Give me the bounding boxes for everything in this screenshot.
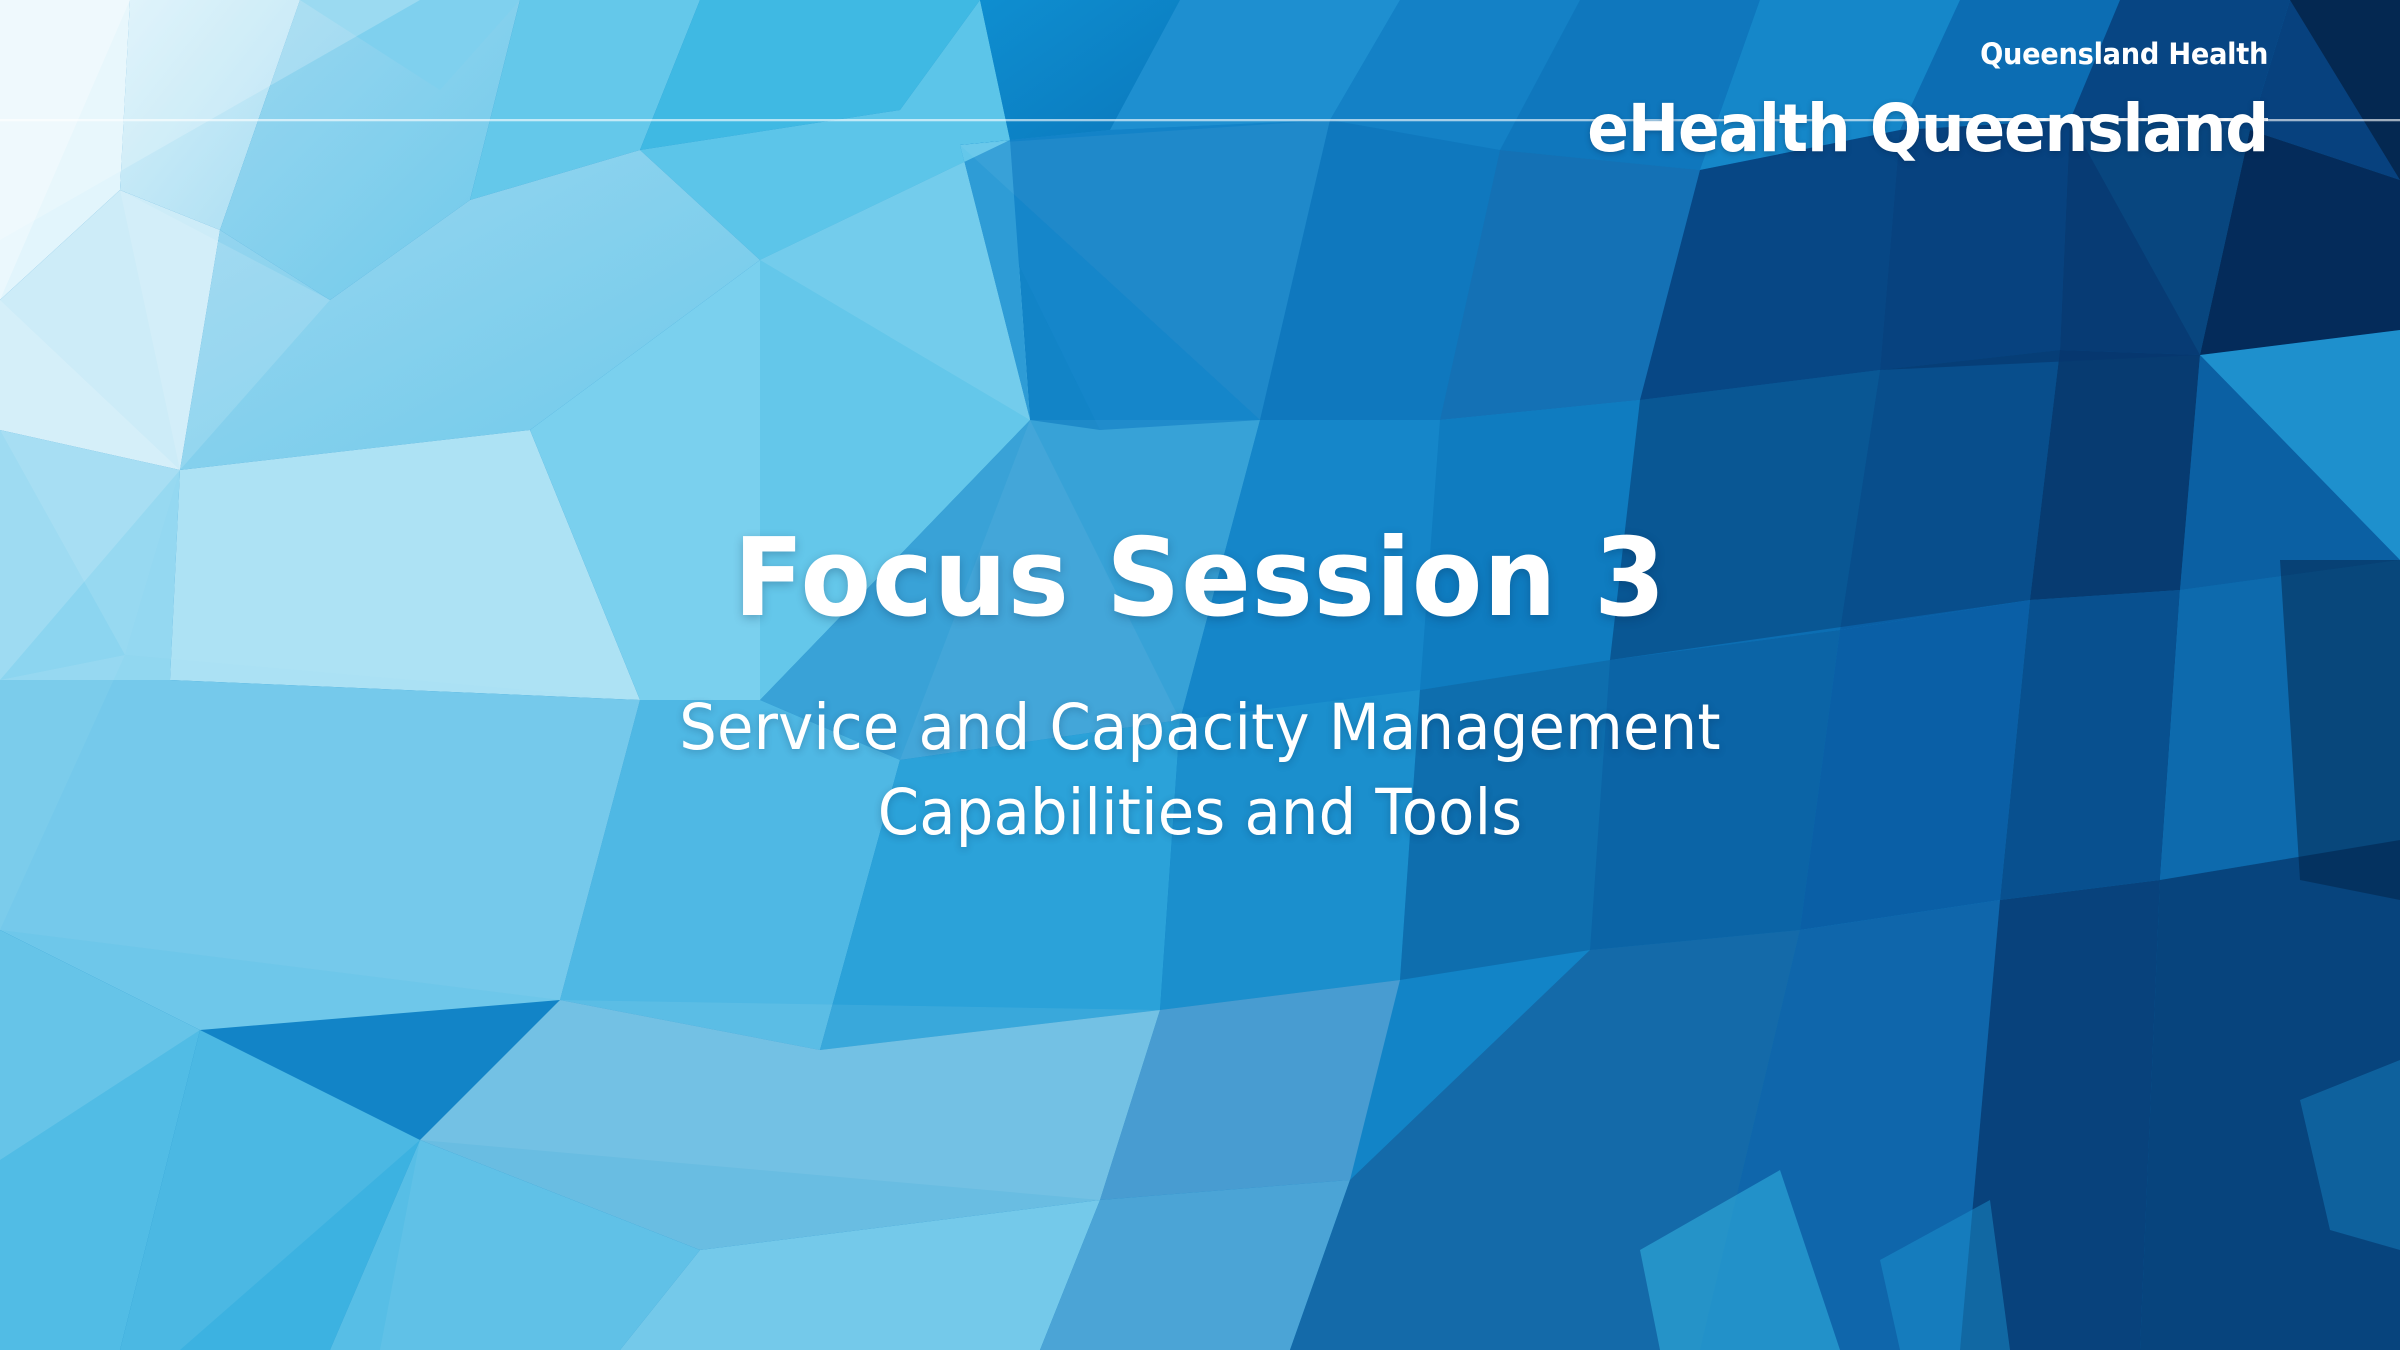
page-title: Focus Session 3 xyxy=(60,525,2340,633)
subtitle-line-1: Service and Capacity Management xyxy=(72,696,2328,759)
subtitle-line-2: Capabilities and Tools xyxy=(72,781,2328,844)
organisation-name: Queensland Health xyxy=(1580,40,2268,69)
title-slide: Queensland Health eHealth Queensland Foc… xyxy=(0,0,2400,1350)
title-block: Focus Session 3 Service and Capacity Man… xyxy=(0,525,2400,844)
brand-logo: Queensland Health eHealth Queensland xyxy=(1536,40,2268,162)
logo-wordmark: eHealth Queensland xyxy=(1587,96,2268,162)
